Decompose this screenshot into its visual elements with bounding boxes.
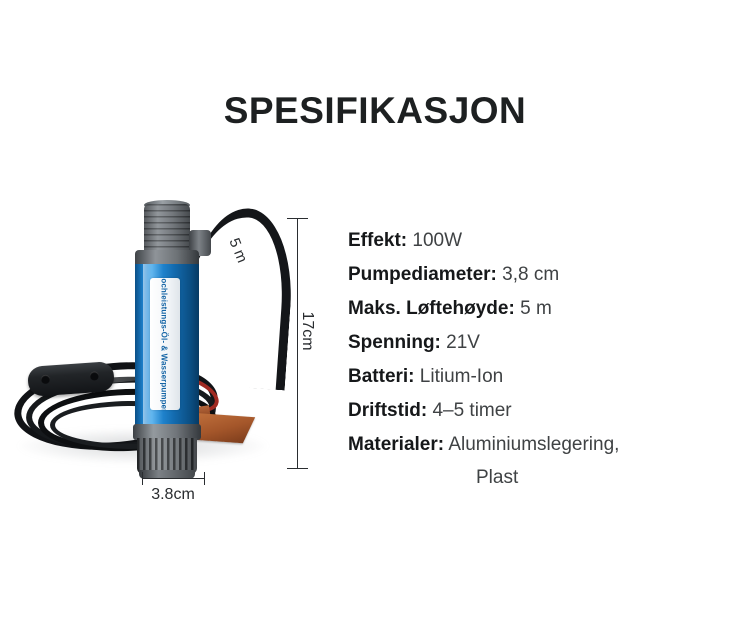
spec-value: 3,8 cm [502,264,559,285]
diameter-dimension-cap-right [204,472,205,485]
spec-value: Aluminiumslegering, [448,434,619,455]
height-dimension-cap-bottom [287,468,308,469]
height-dimension-cap-top [287,218,308,219]
spec-row-spenning: Spenning: 21V [348,326,718,360]
spec-value: 5 m [520,298,552,319]
height-dimension-label: 17cm [298,301,316,361]
pump-label-text: Hochleistungs-Öl- & Wasserpumpen-Set 12V [160,278,169,405]
spec-label: Spenning: [348,332,441,353]
spec-value: 4–5 timer [432,400,511,421]
spec-value: 100W [412,230,462,251]
clip-screw-hole [41,374,51,384]
spec-label: Driftstid: [348,400,427,421]
spec-label: Materialer: [348,434,444,455]
spec-row-materialer: Materialer: Aluminiumslegering, Plast [348,428,718,494]
spec-row-driftstid: Driftstid: 4–5 timer [348,394,718,428]
diameter-dimension-cap-left [142,472,143,485]
spec-value: 21V [446,332,480,353]
pump-product-label: Hochleistungs-Öl- & Wasserpumpen-Set 12V [150,278,180,410]
spec-row-effekt: Effekt: 100W [348,224,718,258]
spec-row-loftehoyde: Maks. Løftehøyde: 5 m [348,292,718,326]
clip-screw-hole [90,371,100,381]
spec-value-line2: Plast [348,461,718,494]
spec-label: Maks. Løftehøyde: [348,298,515,319]
spec-label: Batteri: [348,366,415,387]
page-title: SPESIFIKASJON [0,90,750,132]
spec-label: Effekt: [348,230,407,251]
diameter-dimension-line [142,478,204,479]
spec-page: SPESIFIKASJON Hochleistung [0,0,750,628]
spec-row-batteri: Batteri: Litium-Ion [348,360,718,394]
cable-clip [27,361,115,397]
hose-barb [144,204,190,256]
spec-label: Pumpediameter: [348,264,497,285]
specification-list: Effekt: 100W Pumpediameter: 3,8 cm Maks.… [348,224,718,494]
diameter-dimension-label: 3.8cm [118,486,228,504]
spec-row-pumpediameter: Pumpediameter: 3,8 cm [348,258,718,292]
spec-value: Litium-Ion [420,366,503,387]
product-image: Hochleistungs-Öl- & Wasserpumpen-Set 12V [0,180,330,520]
pump-body: Hochleistungs-Öl- & Wasserpumpen-Set 12V [133,204,209,480]
pump-strainer [137,438,197,474]
